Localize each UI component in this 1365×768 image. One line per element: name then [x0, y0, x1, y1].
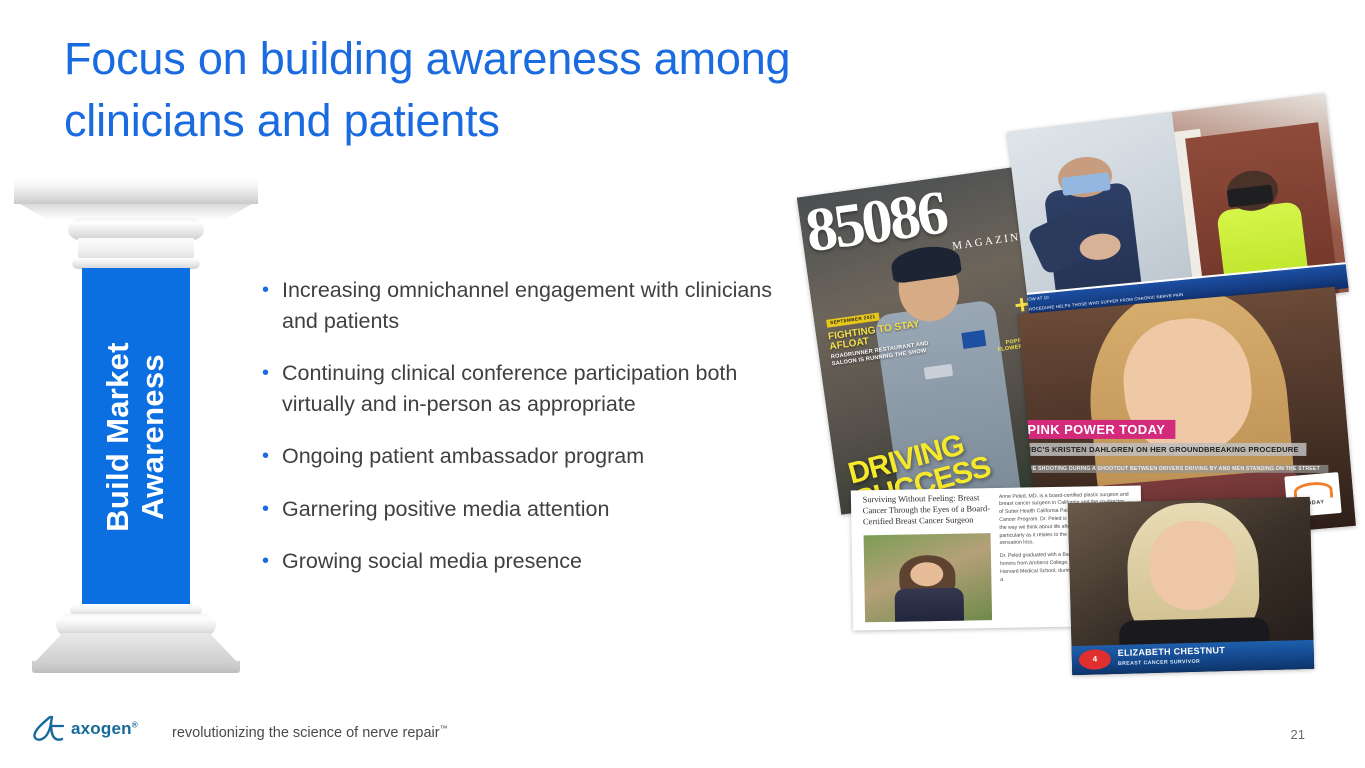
bullet-dot-icon: • [258, 275, 282, 336]
interview-subject-role: BREAST CANCER SURVIVOR [1118, 659, 1200, 667]
bullet-text: Continuing clinical conference participa… [282, 358, 788, 419]
today-ticker-text: THE SHOOTING DURING A SHOOTOUT BETWEEN D… [1018, 465, 1328, 473]
slide: Focus on building awareness among clinic… [0, 0, 1365, 768]
list-item: • Garnering positive media attention [258, 494, 788, 525]
interview-subject-name: ELIZABETH CHESTNUT [1118, 645, 1226, 658]
bullet-dot-icon: • [258, 441, 282, 472]
tagline-text: revolutionizing the science of nerve rep… [172, 725, 440, 741]
interview-image: 4 ELIZABETH CHESTNUT BREAST CANCER SURVI… [1068, 497, 1314, 675]
pillar-shaft: Build Market Awareness [82, 268, 190, 606]
axogen-logo: axogen® [30, 714, 138, 744]
axogen-wordmark: axogen® [71, 719, 138, 739]
list-item: • Growing social media presence [258, 546, 788, 577]
today-lower-third: PINK POWER TODAY NBC'S KRISTEN DAHLGREN … [1018, 420, 1356, 475]
pillar-capital-abacus [14, 178, 258, 204]
pillar-capital-neck [78, 238, 194, 260]
tagline: revolutionizing the science of nerve rep… [172, 724, 448, 741]
bullet-text: Ongoing patient ambassador program [282, 441, 788, 472]
pillar-graphic: Build Market Awareness [14, 178, 258, 686]
axogen-brand-text: axogen [71, 719, 132, 738]
axogen-mark-icon [30, 714, 64, 744]
article-photo [863, 533, 992, 622]
pillar-base-torus [56, 614, 216, 636]
bullet-text: Increasing omnichannel engagement with c… [282, 275, 788, 336]
list-item: • Increasing omnichannel engagement with… [258, 275, 788, 336]
article-headline: Surviving Without Feeling: Breast Cancer… [862, 492, 990, 527]
bullet-text: Garnering positive media attention [282, 494, 788, 525]
pillar-base-flare [34, 633, 238, 663]
list-item: • Continuing clinical conference partici… [258, 358, 788, 419]
article-subject-body [895, 587, 964, 622]
pillar-label: Build Market Awareness [82, 268, 190, 606]
magazine-uniform-patch [961, 330, 986, 349]
pillar-capital-echinus [68, 218, 204, 240]
bullet-dot-icon: • [258, 546, 282, 577]
trademark-mark: ™ [440, 724, 448, 733]
interview-lower-third: 4 ELIZABETH CHESTNUT BREAST CANCER SURVI… [1072, 640, 1315, 676]
page-number: 21 [1291, 727, 1305, 742]
bullet-dot-icon: • [258, 494, 282, 525]
media-collage: 85086 MAGAZINE SEPTEMBER 2021 FIGHTING T… [790, 100, 1350, 680]
bullet-list: • Increasing omnichannel engagement with… [258, 275, 788, 599]
bullet-dot-icon: • [258, 358, 282, 419]
channel-logo-icon: 4 [1079, 649, 1111, 670]
list-item: • Ongoing patient ambassador program [258, 441, 788, 472]
pillar-base-plinth [32, 661, 240, 673]
today-banner-text: PINK POWER TODAY [1018, 420, 1175, 439]
interview-subject-face [1148, 519, 1237, 611]
today-subbanner-text: NBC'S KRISTEN DAHLGREN ON HER GROUNDBREA… [1018, 443, 1307, 456]
pillar-label-text: Build Market Awareness [101, 268, 170, 606]
registered-mark: ® [132, 720, 138, 729]
article-subject-face [910, 562, 944, 587]
news-ticker-line1: NOW AT 10 [1025, 295, 1049, 302]
bullet-text: Growing social media presence [282, 546, 788, 577]
